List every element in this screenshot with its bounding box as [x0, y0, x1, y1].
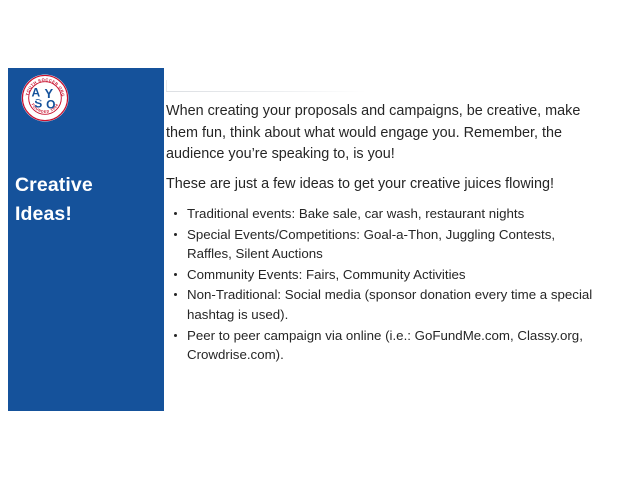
- list-item-label: Peer to peer campaign via online (i.e.: …: [187, 328, 583, 363]
- title-line-1: Creative: [15, 171, 163, 200]
- list-item-label: Special Events/Competitions: Goal-a-Thon…: [187, 227, 555, 262]
- ideas-bullet-list: Traditional events: Bake sale, car wash,…: [166, 204, 600, 365]
- list-item-label: Community Events: Fairs, Community Activ…: [187, 267, 466, 282]
- list-item: Community Events: Fairs, Community Activ…: [166, 265, 600, 285]
- ayso-logo: AMERICAN YOUTH SOCCER ORGANIZATION FOUND…: [21, 74, 69, 122]
- list-item: Special Events/Competitions: Goal-a-Thon…: [166, 225, 600, 264]
- title-line-2: Ideas!: [15, 200, 163, 229]
- list-item-label: Traditional events: Bake sale, car wash,…: [187, 206, 524, 221]
- list-item: Traditional events: Bake sale, car wash,…: [166, 204, 600, 224]
- svg-text:S: S: [34, 97, 42, 111]
- bullet-dot-icon: [174, 233, 177, 236]
- body-content: When creating your proposals and campaig…: [166, 91, 606, 366]
- list-item-label: Non-Traditional: Social media (sponsor d…: [187, 287, 592, 322]
- lead-in-paragraph: These are just a few ideas to get your c…: [166, 174, 600, 196]
- page-title: Creative Ideas!: [15, 171, 163, 229]
- bullet-dot-icon: [174, 212, 177, 215]
- intro-paragraph: When creating your proposals and campaig…: [166, 101, 600, 166]
- list-item: Peer to peer campaign via online (i.e.: …: [166, 326, 600, 365]
- svg-text:O: O: [46, 98, 55, 112]
- bullet-dot-icon: [174, 293, 177, 296]
- slide-canvas: AMERICAN YOUTH SOCCER ORGANIZATION FOUND…: [0, 0, 621, 480]
- bullet-dot-icon: [174, 334, 177, 337]
- rule-tick-mark: [166, 80, 167, 91]
- bullet-dot-icon: [174, 273, 177, 276]
- list-item: Non-Traditional: Social media (sponsor d…: [166, 285, 600, 324]
- title-panel: AMERICAN YOUTH SOCCER ORGANIZATION FOUND…: [8, 68, 164, 411]
